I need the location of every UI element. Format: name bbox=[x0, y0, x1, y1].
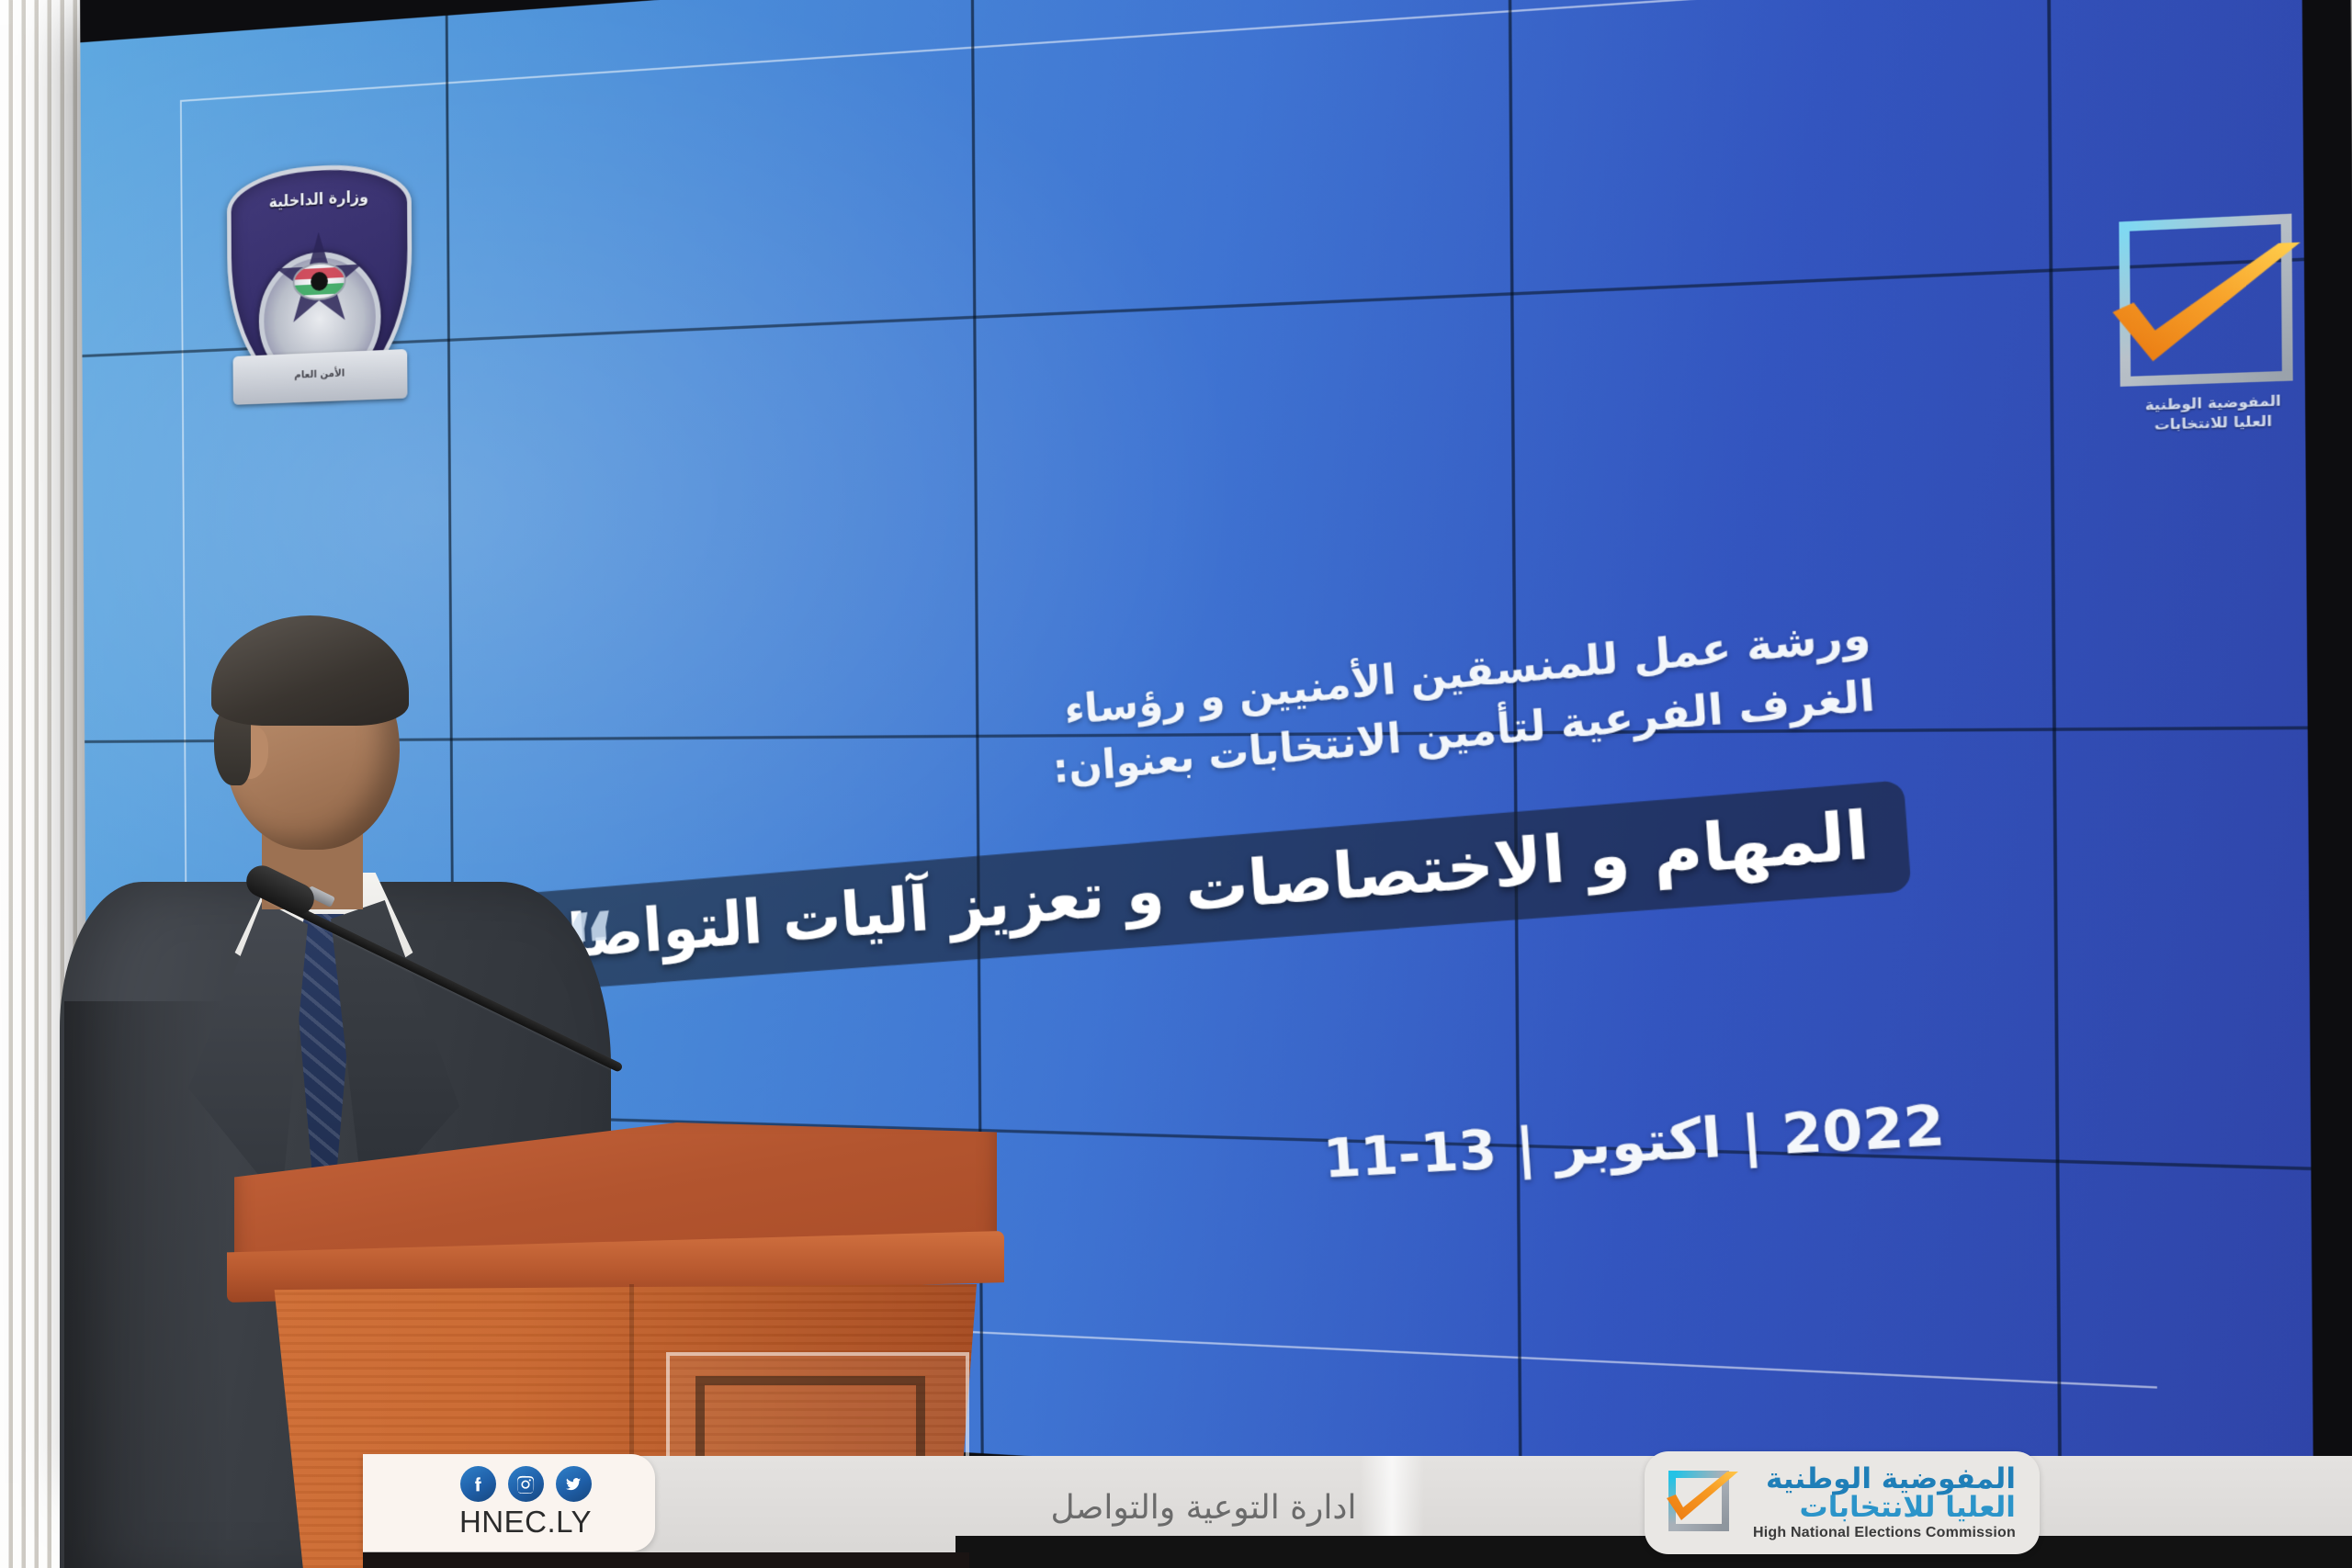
social-handle-text: HNEC.LY bbox=[459, 1505, 592, 1540]
checkmark-icon bbox=[2100, 240, 2310, 381]
ministry-of-interior-emblem: وزارة الداخلية الأمن العام bbox=[227, 160, 413, 399]
lower-bar-black-strip bbox=[363, 1552, 969, 1568]
bar-caption: ادارة التوعية والتواصل bbox=[946, 1468, 1461, 1547]
hnec-logo-caption: المفوضية الوطنية العليا للانتخابات bbox=[2109, 391, 2319, 436]
instagram-icon[interactable] bbox=[508, 1466, 544, 1502]
photo-stage: وزارة الداخلية الأمن العام bbox=[0, 0, 2352, 1568]
hnec-logo-on-slide: المفوضية الوطنية العليا للانتخابات bbox=[2108, 211, 2336, 458]
hnec-name-en: High National Elections Commission bbox=[1753, 1526, 2016, 1540]
microphone-stem bbox=[265, 892, 624, 1073]
hnec-name-ar-line2: العليا للانتخابات bbox=[1753, 1494, 2016, 1523]
social-icon-row bbox=[460, 1466, 592, 1502]
hnec-brand-pill[interactable]: المفوضية الوطنية العليا للانتخابات High … bbox=[1645, 1451, 2040, 1554]
twitter-icon[interactable] bbox=[556, 1466, 592, 1502]
hnec-name-ar-line1: المفوضية الوطنية bbox=[1753, 1465, 2016, 1495]
hnec-checkbox-logo bbox=[1661, 1463, 1740, 1542]
emblem-scroll-banner: الأمن العام bbox=[233, 349, 408, 405]
hair bbox=[211, 615, 409, 726]
social-handle-pill[interactable]: HNEC.LY bbox=[363, 1454, 655, 1551]
hnec-brand-text: المفوضية الوطنية العليا للانتخابات High … bbox=[1753, 1465, 2016, 1541]
checkmark-icon bbox=[1661, 1471, 1740, 1528]
facebook-icon[interactable] bbox=[460, 1466, 496, 1502]
ministry-sub-label: الأمن العام bbox=[233, 364, 408, 383]
